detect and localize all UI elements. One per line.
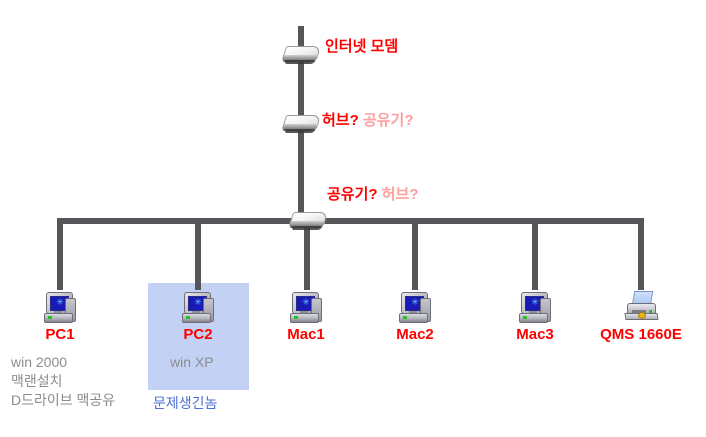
router-label-primary: 공유기?: [327, 186, 378, 203]
computer-icon-base: [44, 313, 73, 323]
computer-icon-led: [186, 316, 190, 319]
computer-icon-base: [519, 313, 548, 323]
hub-icon[interactable]: [281, 113, 321, 135]
drop-mac2: [412, 218, 418, 290]
printer-icon-knob: [638, 312, 646, 319]
modem-icon-shadow: [284, 60, 315, 64]
node-pc1-note-1: win 2000: [11, 353, 67, 372]
hub-label-primary: 허브?: [322, 112, 359, 129]
computer-icon: ✳: [289, 290, 323, 324]
node-pc1[interactable]: ✳ PC1: [5, 290, 115, 344]
hub-icon-shadow: [284, 129, 315, 133]
computer-icon-base: [290, 313, 319, 323]
node-pc1-note-3: D드라이브 맥공유: [11, 391, 115, 410]
computer-icon: ✳: [518, 290, 552, 324]
computer-icon-screen-glyph: ✳: [411, 299, 419, 308]
drop-printer: [638, 218, 644, 290]
node-mac2[interactable]: ✳ Mac2: [360, 290, 470, 344]
router-label-secondary: 허브?: [382, 186, 419, 203]
modem-label: 인터넷 모뎀: [325, 38, 398, 56]
computer-icon-led: [403, 316, 407, 319]
node-printer[interactable]: QMS 1660E: [586, 290, 696, 344]
router-icon-shadow: [291, 226, 322, 230]
node-mac3[interactable]: ✳ Mac3: [480, 290, 590, 344]
node-mac3-label: Mac3: [480, 326, 590, 344]
hub-label: 허브? 공유기?: [322, 112, 414, 130]
network-topology-diagram: 인터넷 모뎀 허브? 공유기? 공유기? 허브? ✳ PC1 win 2000 …: [0, 0, 706, 437]
computer-icon: ✳: [181, 290, 215, 324]
router-label: 공유기? 허브?: [327, 186, 419, 204]
bus-line: [57, 218, 644, 224]
computer-icon-screen-glyph: ✳: [194, 299, 202, 308]
node-mac2-label: Mac2: [360, 326, 470, 344]
node-mac1[interactable]: ✳ Mac1: [251, 290, 361, 344]
drop-mac3: [532, 218, 538, 290]
computer-icon: ✳: [398, 290, 432, 324]
node-printer-label: QMS 1660E: [586, 326, 696, 344]
hub-label-secondary: 공유기?: [363, 112, 414, 129]
node-mac1-label: Mac1: [251, 326, 361, 344]
computer-icon-screen-glyph: ✳: [302, 299, 310, 308]
printer-icon: [624, 290, 658, 324]
link-hub-router: [298, 124, 304, 224]
computer-icon-led: [294, 316, 298, 319]
computer-icon-base: [399, 313, 428, 323]
node-pc1-note-2: 맥랜설치: [11, 372, 63, 391]
drop-pc2: [195, 218, 201, 290]
computer-icon-screen-glyph: ✳: [531, 299, 539, 308]
computer-icon-screen-glyph: ✳: [56, 299, 64, 308]
modem-label-primary: 인터넷 모뎀: [325, 38, 398, 55]
drop-pc1: [57, 218, 63, 290]
computer-icon-led: [523, 316, 527, 319]
node-pc2[interactable]: ✳ PC2: [143, 290, 253, 344]
modem-icon[interactable]: [281, 44, 321, 66]
computer-icon-base: [182, 313, 211, 323]
computer-icon: ✳: [43, 290, 77, 324]
router-icon[interactable]: [288, 210, 328, 232]
node-pc1-label: PC1: [5, 326, 115, 344]
computer-icon-led: [48, 316, 52, 319]
node-pc2-note-1: win XP: [170, 353, 214, 372]
node-pc2-label: PC2: [143, 326, 253, 344]
node-pc2-caption: 문제생긴놈: [153, 394, 217, 413]
